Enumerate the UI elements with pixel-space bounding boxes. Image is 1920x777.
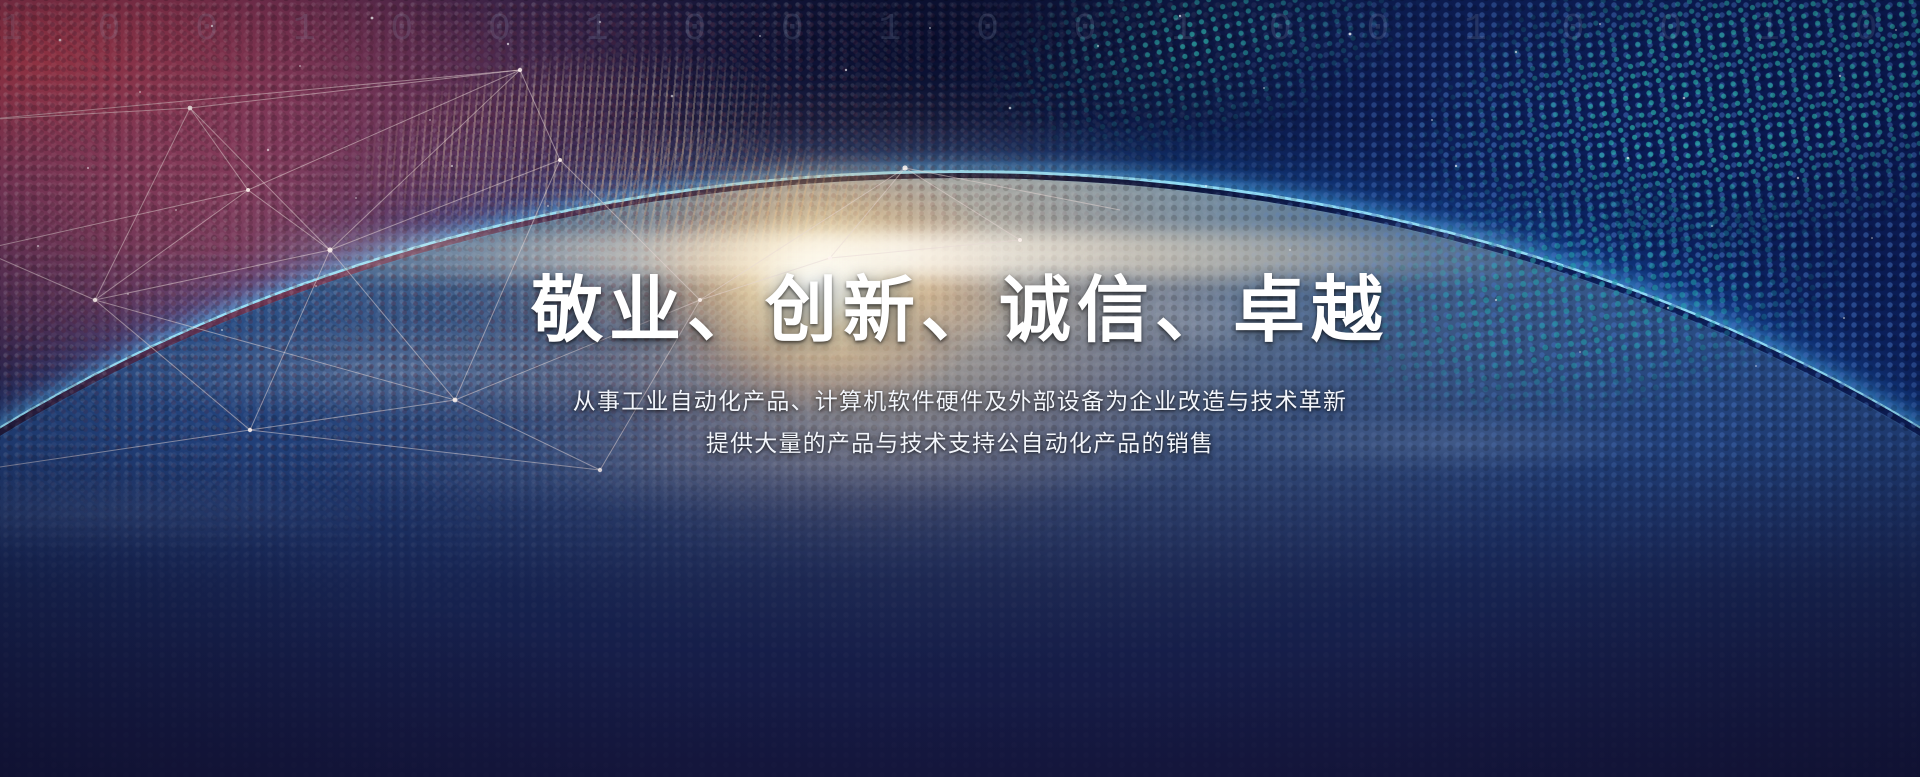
hero-subtitle-line-2: 提供大量的产品与技术支持公自动化产品的销售 xyxy=(0,422,1920,465)
hero-copy-block: 敬业、创新、诚信、卓越 从事工业自动化产品、计算机软件硬件及外部设备为企业改造与… xyxy=(0,274,1920,465)
hero-subtitle-line-1: 从事工业自动化产品、计算机软件硬件及外部设备为企业改造与技术革新 xyxy=(0,380,1920,423)
hero-headline: 敬业、创新、诚信、卓越 xyxy=(0,274,1920,350)
hero-subtitle: 从事工业自动化产品、计算机软件硬件及外部设备为企业改造与技术革新 提供大量的产品… xyxy=(0,380,1920,465)
hero-banner: 1 0 0 1 0 0 1 0 0 1 0 0 1 0 0 1 0 0 1 0 … xyxy=(0,0,1920,777)
